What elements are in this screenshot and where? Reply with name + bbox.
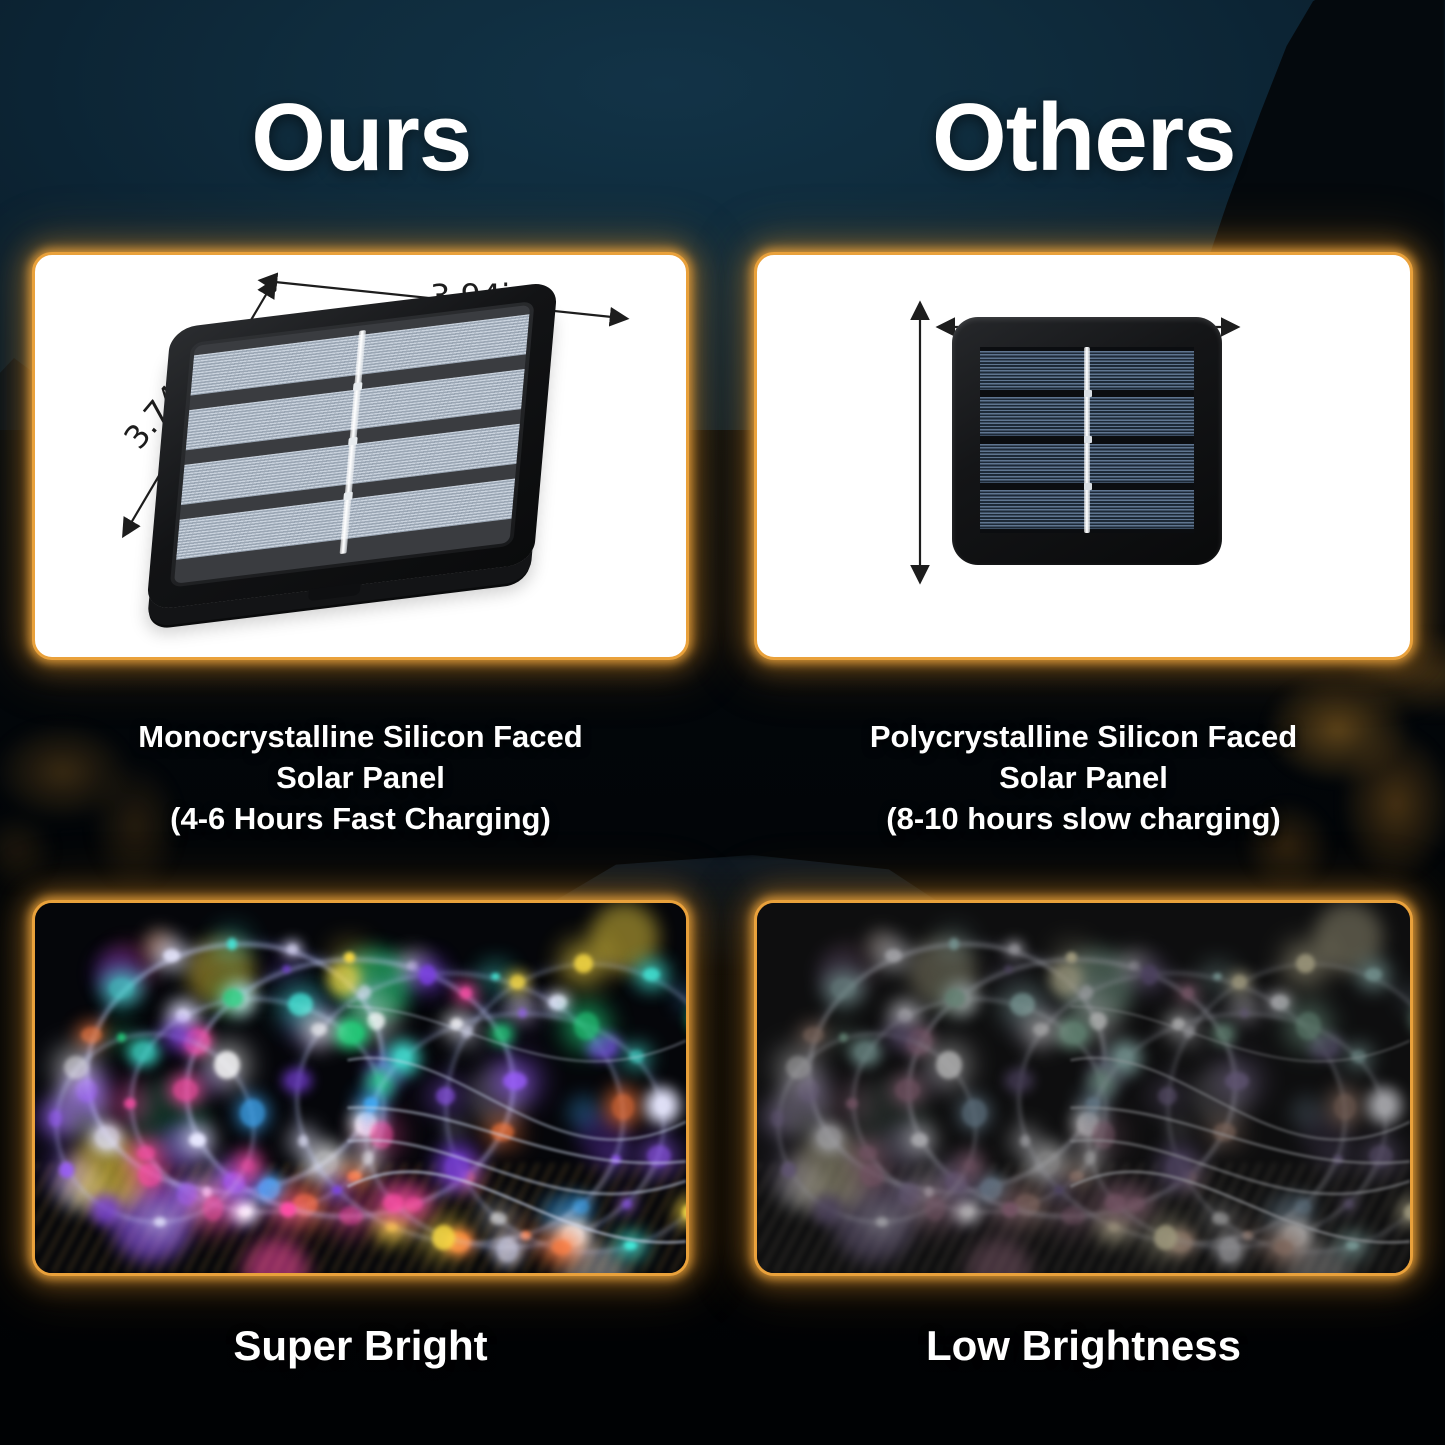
busbar-node — [353, 382, 363, 391]
others-caption-line-1: Polycrystalline Silicon Faced — [754, 716, 1413, 757]
busbar-node — [1084, 436, 1092, 443]
led-string-lights-bright — [35, 903, 686, 1273]
monocrystalline-panel-3d — [146, 281, 558, 611]
busbar-node — [348, 437, 358, 446]
low-brightness-caption: Low Brightness — [754, 1322, 1413, 1370]
others-caption-line-3: (8-10 hours slow charging) — [754, 798, 1413, 839]
heading-column-others: Others — [723, 78, 1445, 198]
polycrystalline-panel-flat — [952, 317, 1222, 565]
others-panel-illustration: 2.5in 2.5in — [757, 255, 1410, 657]
busbar-node — [1084, 483, 1092, 490]
busbar-node — [1084, 390, 1092, 397]
ours-caption-line-2: Solar Panel — [32, 757, 689, 798]
ours-caption-line-1: Monocrystalline Silicon Faced — [32, 716, 689, 757]
ours-solar-panel-card: 3.94in 3.74in — [32, 252, 689, 660]
low-brightness-led-photo-card — [754, 900, 1413, 1276]
led-wire-strand — [35, 903, 686, 1273]
comparison-headings: Ours Others — [0, 78, 1445, 198]
panel-face — [170, 301, 535, 588]
heading-others: Others — [932, 90, 1235, 186]
super-bright-led-photo-card — [32, 900, 689, 1276]
panel-face — [980, 347, 1194, 533]
others-panel-caption: Polycrystalline Silicon Faced Solar Pane… — [754, 716, 1413, 840]
panel-glass — [174, 305, 530, 584]
heading-column-ours: Ours — [0, 78, 723, 198]
ours-panel-caption: Monocrystalline Silicon Faced Solar Pane… — [32, 716, 689, 840]
heading-ours: Ours — [251, 90, 471, 186]
led-string-lights-dim — [757, 903, 1410, 1273]
others-solar-panel-card: 2.5in 2.5in — [754, 252, 1413, 660]
super-bright-caption: Super Bright — [32, 1322, 689, 1370]
ours-panel-illustration: 3.94in 3.74in — [35, 255, 686, 657]
others-caption-line-2: Solar Panel — [754, 757, 1413, 798]
ours-caption-line-3: (4-6 Hours Fast Charging) — [32, 798, 689, 839]
led-wire-strand — [757, 903, 1410, 1273]
busbar-node — [343, 491, 353, 500]
comparison-infographic: Ours Others — [0, 0, 1445, 1445]
